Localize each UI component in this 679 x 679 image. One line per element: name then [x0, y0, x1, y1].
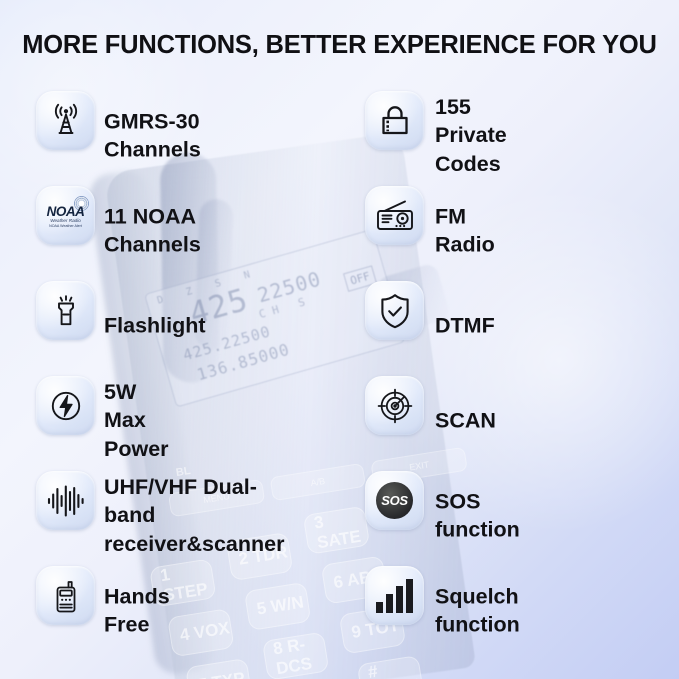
lcd-ch-s-row: CH S: [257, 294, 313, 322]
feature-label: Squelch function: [435, 582, 520, 639]
radar-target-icon: [365, 376, 424, 435]
radio-key: 5 W/N: [244, 582, 311, 631]
feature-label: Hands Free: [104, 582, 170, 639]
signal-bar: [376, 602, 383, 613]
radio-key: 3 SATE: [303, 506, 370, 555]
radio-key: 7 TXP: [185, 658, 252, 679]
signal-bar: [396, 586, 403, 613]
signal-bar: [386, 594, 393, 613]
radio-antenna: [160, 152, 220, 383]
shield-check-icon: [365, 281, 424, 340]
background-radio-photo: D Z S N 425 22500 CH S OFF 425.22500 136…: [0, 0, 679, 679]
feature-label: SCAN: [435, 406, 496, 435]
feature-label: SOS function: [435, 487, 520, 544]
noaa-subtitle-2: NOAA Weather Alert: [42, 224, 90, 228]
noaa-wordmark: NOAA: [42, 204, 90, 219]
flashlight-icon: [36, 281, 95, 340]
antenna-tower-icon: [36, 91, 95, 150]
feature-label: Flashlight: [104, 311, 206, 340]
noaa-weather-radio-icon: NOAA Weather Radio NOAA Weather Alert: [36, 186, 95, 245]
feature-label: 155 Private Codes: [435, 93, 507, 179]
feature-label: 5W Max Power: [104, 378, 169, 464]
feature-infographic: D Z S N 425 22500 CH S OFF 425.22500 136…: [0, 0, 679, 679]
radio-key: # LOCK: [357, 655, 424, 679]
page-title: MORE FUNCTIONS, BETTER EXPERIENCE FOR YO…: [0, 31, 679, 60]
radio-key: 8 R-DCS: [262, 632, 329, 679]
lcd-top-indicators: D Z S N: [156, 267, 260, 307]
sos-icon: SOS: [365, 471, 424, 530]
feature-label: GMRS-30 Channels: [104, 107, 201, 164]
noaa-subtitle: Weather Radio: [42, 218, 90, 223]
signal-bar: [406, 579, 413, 613]
walkie-talkie-icon: [36, 566, 95, 625]
radio-key: 4 VOX: [167, 608, 234, 657]
signal-bars: [376, 579, 413, 613]
audio-waveform-icon: [36, 471, 95, 530]
feature-label: DTMF: [435, 311, 495, 340]
feature-label: 11 NOAA Channels: [104, 202, 201, 259]
padlock-icon: [365, 91, 424, 150]
lcd-frequency-line-2: 136.85000: [195, 340, 292, 385]
signal-bars-icon: [365, 566, 424, 625]
feature-label: FM Radio: [435, 202, 495, 259]
fm-radio-icon: [365, 186, 424, 245]
background-glow-right: [379, 180, 679, 540]
power-bolt-icon: [36, 376, 95, 435]
sos-label: SOS: [376, 482, 413, 519]
feature-label: UHF/VHF Dual-band receiver&scanner: [104, 473, 284, 559]
lcd-main-digits-2: 22500: [255, 266, 324, 307]
